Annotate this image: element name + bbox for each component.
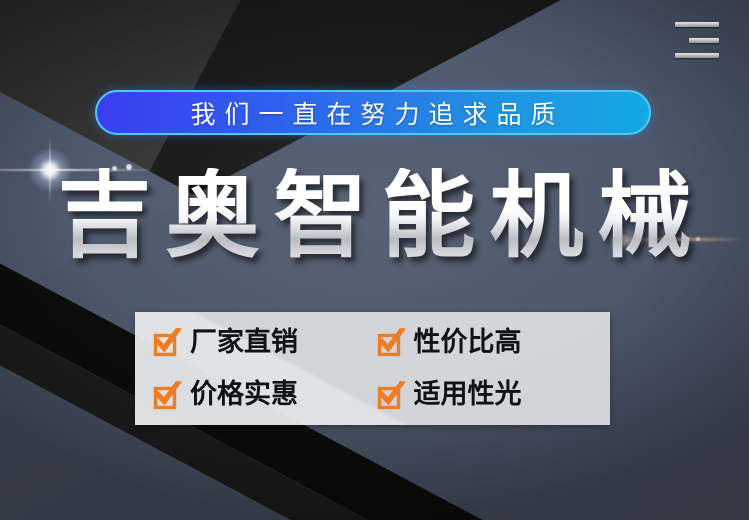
feature-label-2: 价格实惠 — [190, 381, 298, 408]
hamburger-bar-bottom — [675, 53, 719, 58]
check-box-icon — [153, 380, 183, 410]
promo-banner-stage: 我们一直在努力追求品质 吉奥智能机械 厂家直销 性价比高 — [0, 0, 749, 520]
feature-item-1: 性价比高 — [377, 327, 601, 357]
feature-item-0: 厂家直销 — [153, 327, 377, 357]
slogan-text: 我们一直在努力追求品质 — [181, 95, 564, 131]
page-title: 吉奥智能机械 — [0, 168, 749, 267]
slogan-banner: 我们一直在努力追求品质 — [95, 90, 651, 135]
feature-label-1: 性价比高 — [414, 329, 522, 356]
hamburger-bar-top — [675, 22, 719, 27]
hamburger-bar-middle — [689, 38, 719, 43]
check-box-icon — [153, 327, 183, 357]
feature-item-3: 适用性光 — [377, 380, 601, 410]
check-box-icon — [377, 327, 407, 357]
brand-title-text: 吉奥智能机械 — [43, 168, 705, 267]
check-box-icon — [377, 380, 407, 410]
feature-label-3: 适用性光 — [414, 381, 522, 408]
feature-panel: 厂家直销 性价比高 价格实惠 — [135, 312, 610, 425]
feature-label-0: 厂家直销 — [190, 329, 298, 356]
hamburger-menu-icon[interactable] — [675, 22, 719, 58]
feature-item-2: 价格实惠 — [153, 380, 377, 410]
